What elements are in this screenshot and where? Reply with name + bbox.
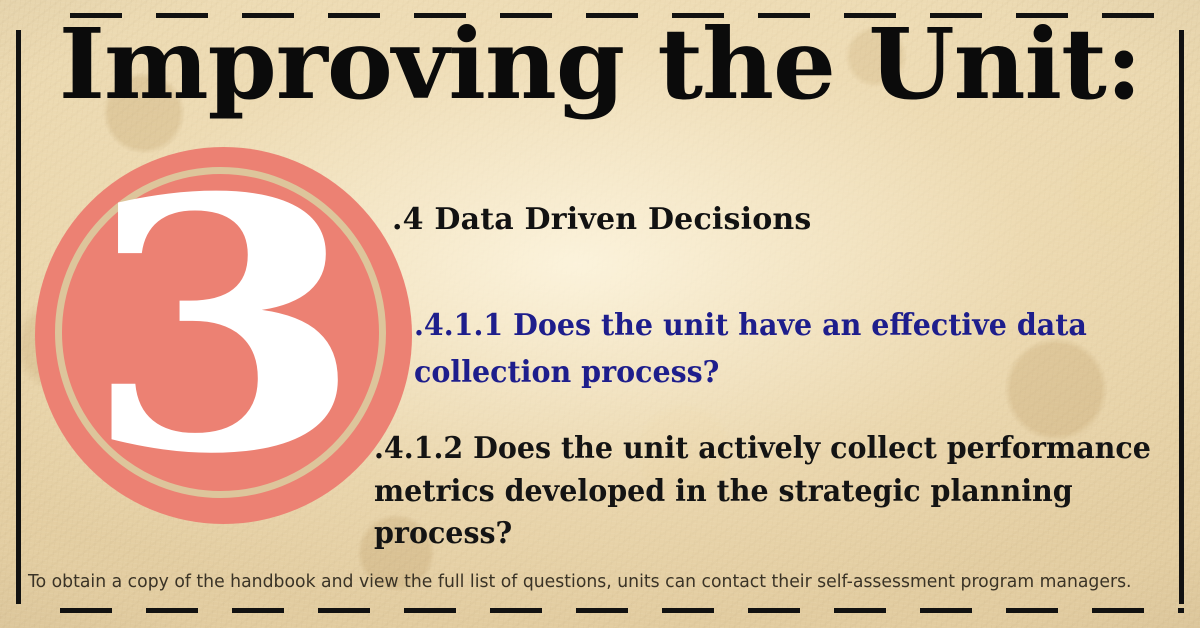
footer-note: To obtain a copy of the handbook and vie…	[28, 572, 1161, 593]
page-title: Improving the Unit:	[0, 14, 1200, 116]
frame-border-bottom	[60, 608, 1184, 613]
question-item-2: .4.1.2 Does the unit actively collect pe…	[374, 428, 1163, 556]
question-item-1: .4.1.1 Does the unit have an effective d…	[414, 303, 1090, 396]
frame-border-right	[1179, 30, 1184, 604]
number-badge: 3	[35, 147, 412, 524]
section-heading: .4 Data Driven Decisions	[392, 202, 1152, 238]
poster-canvas: Improving the Unit: 3 .4 Data Driven Dec…	[0, 0, 1200, 628]
